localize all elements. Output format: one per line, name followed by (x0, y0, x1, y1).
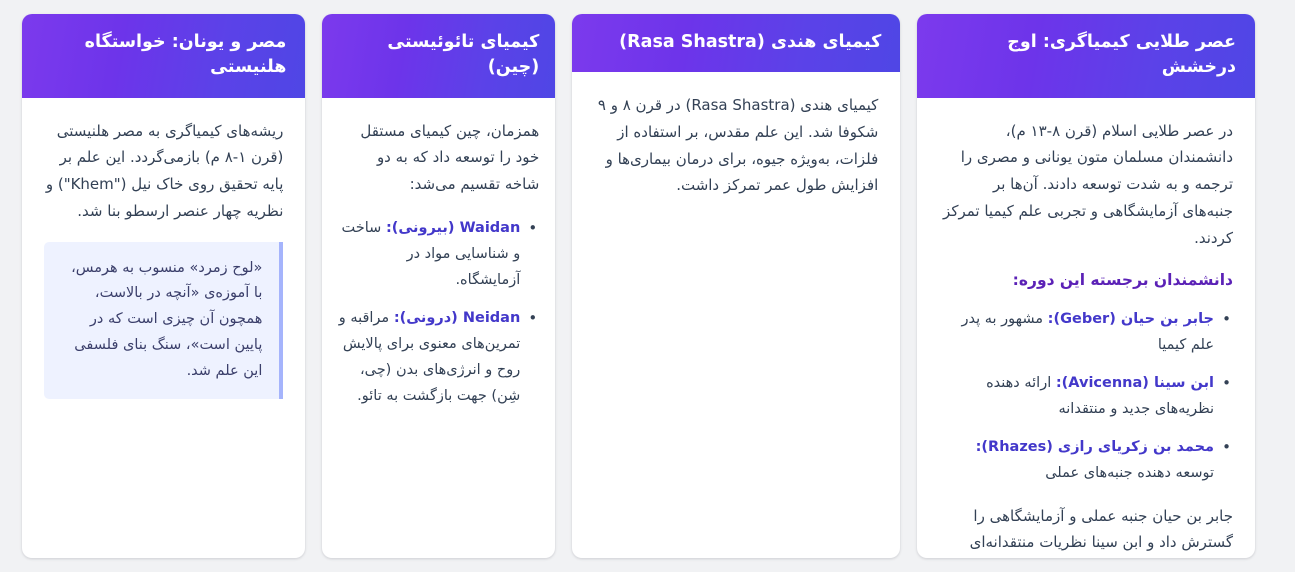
card-body-rasa-shastra: کیمیای هندی (Rasa Shastra) در قرن ۸ و ۹ … (572, 72, 900, 558)
list-item-description: توسعه دهنده جنبه‌های عملی (1045, 465, 1214, 481)
cards-row: مصر و یونان: خواستگاه هلنیستی ریشه‌های ک… (0, 14, 1295, 572)
card-islamic-golden-age: عصر طلایی کیمیاگری: اوج درخشش در عصر طلا… (917, 14, 1255, 558)
card-intro-paragraph: ریشه‌های کیمیاگری به مصر هلنیستی (قرن ۱-… (44, 118, 283, 225)
list-item: محمد بن زکریای رازی (Rhazes): توسعه دهند… (939, 434, 1233, 486)
list-item-term: ابن سینا (Avicenna): (1056, 375, 1214, 391)
list-item: ابن سینا (Avicenna): ارائه دهنده نظریه‌ه… (939, 370, 1233, 422)
card-body-islamic-golden-age: در عصر طلایی اسلام (قرن ۸-۱۳ م)، دانشمند… (917, 98, 1255, 558)
card-taoist-alchemy: کیمیای تائوئیستی (چین) همزمان، چین کیمیا… (322, 14, 555, 558)
card-intro-paragraph: در عصر طلایی اسلام (قرن ۸-۱۳ م)، دانشمند… (939, 118, 1233, 251)
emerald-tablet-quote: «لوح زمرد» منسوب به هرمس، با آموزه‌ی «آن… (44, 242, 283, 400)
card-title-islamic-golden-age: عصر طلایی کیمیاگری: اوج درخشش (917, 14, 1255, 98)
card-outro-paragraph: جابر بن حیان جنبه عملی و آزمایشگاهی را گ… (939, 503, 1233, 558)
taoist-branches-list: Waidan (بیرونی): ساخت و شناسایی مواد در … (338, 215, 539, 410)
card-title-egypt-greece: مصر و یونان: خواستگاه هلنیستی (22, 14, 305, 98)
list-item: Neidan (درونی): مراقبه و تمرین‌های معنوی… (338, 305, 539, 409)
list-item-term: جابر بن حیان (Geber): (1048, 311, 1214, 327)
card-intro-paragraph: همزمان، چین کیمیای مستقل خود را توسعه دا… (338, 118, 539, 198)
list-item-term: Waidan (بیرونی): (386, 220, 520, 236)
card-body-egypt-greece: ریشه‌های کیمیاگری به مصر هلنیستی (قرن ۱-… (22, 98, 305, 558)
card-rasa-shastra: کیمیای هندی (Rasa Shastra) کیمیای هندی (… (572, 14, 900, 558)
card-title-rasa-shastra: کیمیای هندی (Rasa Shastra) (572, 14, 900, 72)
cards-board: مصر و یونان: خواستگاه هلنیستی ریشه‌های ک… (0, 0, 1295, 572)
scholars-list: جابر بن حیان (Geber): مشهور به پدر علم ک… (939, 306, 1233, 487)
card-intro-paragraph: کیمیای هندی (Rasa Shastra) در قرن ۸ و ۹ … (594, 92, 878, 199)
list-item-term: Neidan (درونی): (394, 310, 520, 326)
card-title-taoist-alchemy: کیمیای تائوئیستی (چین) (322, 14, 555, 98)
card-egypt-greece: مصر و یونان: خواستگاه هلنیستی ریشه‌های ک… (22, 14, 305, 558)
card-body-taoist-alchemy: همزمان، چین کیمیای مستقل خود را توسعه دا… (322, 98, 555, 558)
list-item-term: محمد بن زکریای رازی (Rhazes): (976, 439, 1214, 455)
scholars-subheading: دانشمندان برجسته این دوره: (939, 268, 1233, 293)
list-item: جابر بن حیان (Geber): مشهور به پدر علم ک… (939, 306, 1233, 358)
list-item: Waidan (بیرونی): ساخت و شناسایی مواد در … (338, 215, 539, 293)
